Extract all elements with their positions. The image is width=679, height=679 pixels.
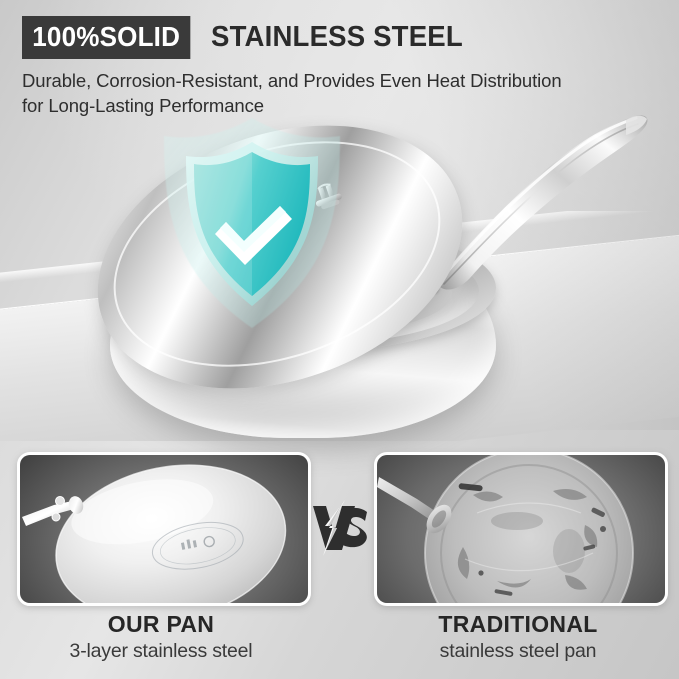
our-pan-subtitle: 3-layer stainless steel [17,640,305,663]
our-pan-title: OUR PAN [17,612,305,638]
our-pan-caption: OUR PAN 3-layer stainless steel [17,612,305,663]
header: 100%SOLID STAINLESS STEEL Durable, Corro… [0,0,679,118]
traditional-pan-title: TRADITIONAL [374,612,662,638]
subheading-line-2: for Long-Lasting Performance [22,94,662,119]
traditional-pan-panel [374,452,668,606]
our-pan-panel [17,452,311,606]
comparison-section: OUR PAN 3-layer stainless steel TRADITIO… [0,452,679,679]
our-pan-bottom-photo [20,455,308,603]
versus-bolt-icon [309,500,371,556]
shield-check-icon [152,114,352,344]
product-infographic: 100%SOLID STAINLESS STEEL Durable, Corro… [0,0,679,679]
shield-body [182,140,322,308]
traditional-pan-subtitle: stainless steel pan [374,640,662,663]
headline-rest: STAINLESS STEEL [211,21,463,54]
traditional-pan-bottom-photo [377,455,665,603]
subheading: Durable, Corrosion-Resistant, and Provid… [22,69,662,118]
hero-product-scene [0,96,679,448]
traditional-pan-caption: TRADITIONAL stainless steel pan [374,612,662,663]
subheading-line-1: Durable, Corrosion-Resistant, and Provid… [22,69,662,94]
pan-handle [430,102,670,292]
solid-badge: 100%SOLID [22,16,190,59]
headline: 100%SOLID STAINLESS STEEL [0,0,679,59]
